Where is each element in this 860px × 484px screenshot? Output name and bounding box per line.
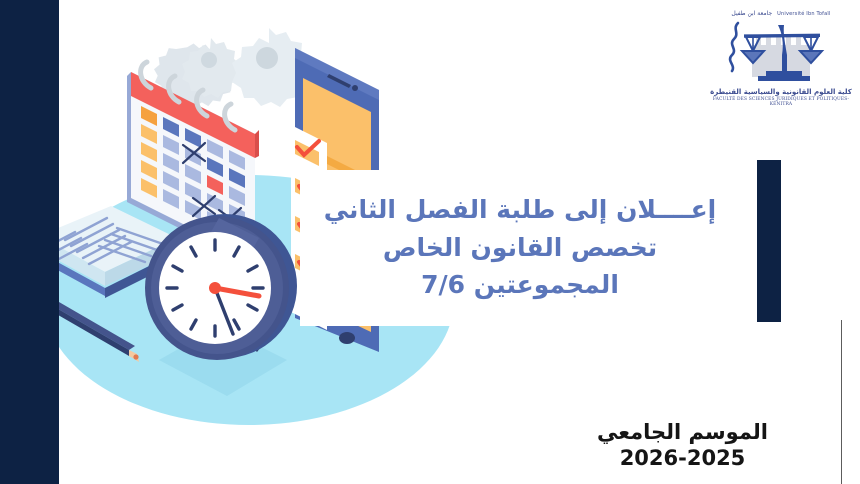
navy-accent-block (757, 160, 781, 322)
announcement-line-1: إعــــلان إلى طلبة الفصل الثاني (324, 196, 716, 225)
scales-of-justice-icon (722, 21, 840, 83)
logo-faculty-lines: كلية العلوم القانونية والسياسية القنيطرة… (706, 88, 856, 108)
left-navy-band (0, 0, 59, 484)
logo-faculty-ar: كلية العلوم القانونية والسياسية القنيطرة (706, 88, 856, 97)
logo-university-fr: Université Ibn Tofaïl (777, 11, 830, 17)
logo-faculty-fr: Faculté des Sciences Juridiques et Polit… (706, 97, 856, 108)
announcement-card: إعــــلان إلى طلبة الفصل الثاني تخصص الق… (300, 170, 740, 326)
announcement-line-3: المجموعتين 7/6 (421, 271, 619, 300)
season-years: 2026-2025 (560, 445, 805, 471)
academic-season: الموسم الجامعي 2026-2025 (560, 420, 805, 471)
poster-canvas: إعــــلان إلى طلبة الفصل الثاني تخصص الق… (0, 0, 860, 484)
vertical-divider-rule (841, 320, 842, 484)
announcement-line-2: تخصص القانون الخاص (383, 234, 657, 263)
season-label: الموسم الجامعي (560, 420, 805, 445)
logo-university-ar: جامعة ابن طفيل (731, 10, 772, 17)
logo-university-line: Université Ibn Tofaïl جامعة ابن طفيل (706, 10, 856, 17)
university-logo: Université Ibn Tofaïl جامعة ابن طفيل (706, 4, 856, 124)
